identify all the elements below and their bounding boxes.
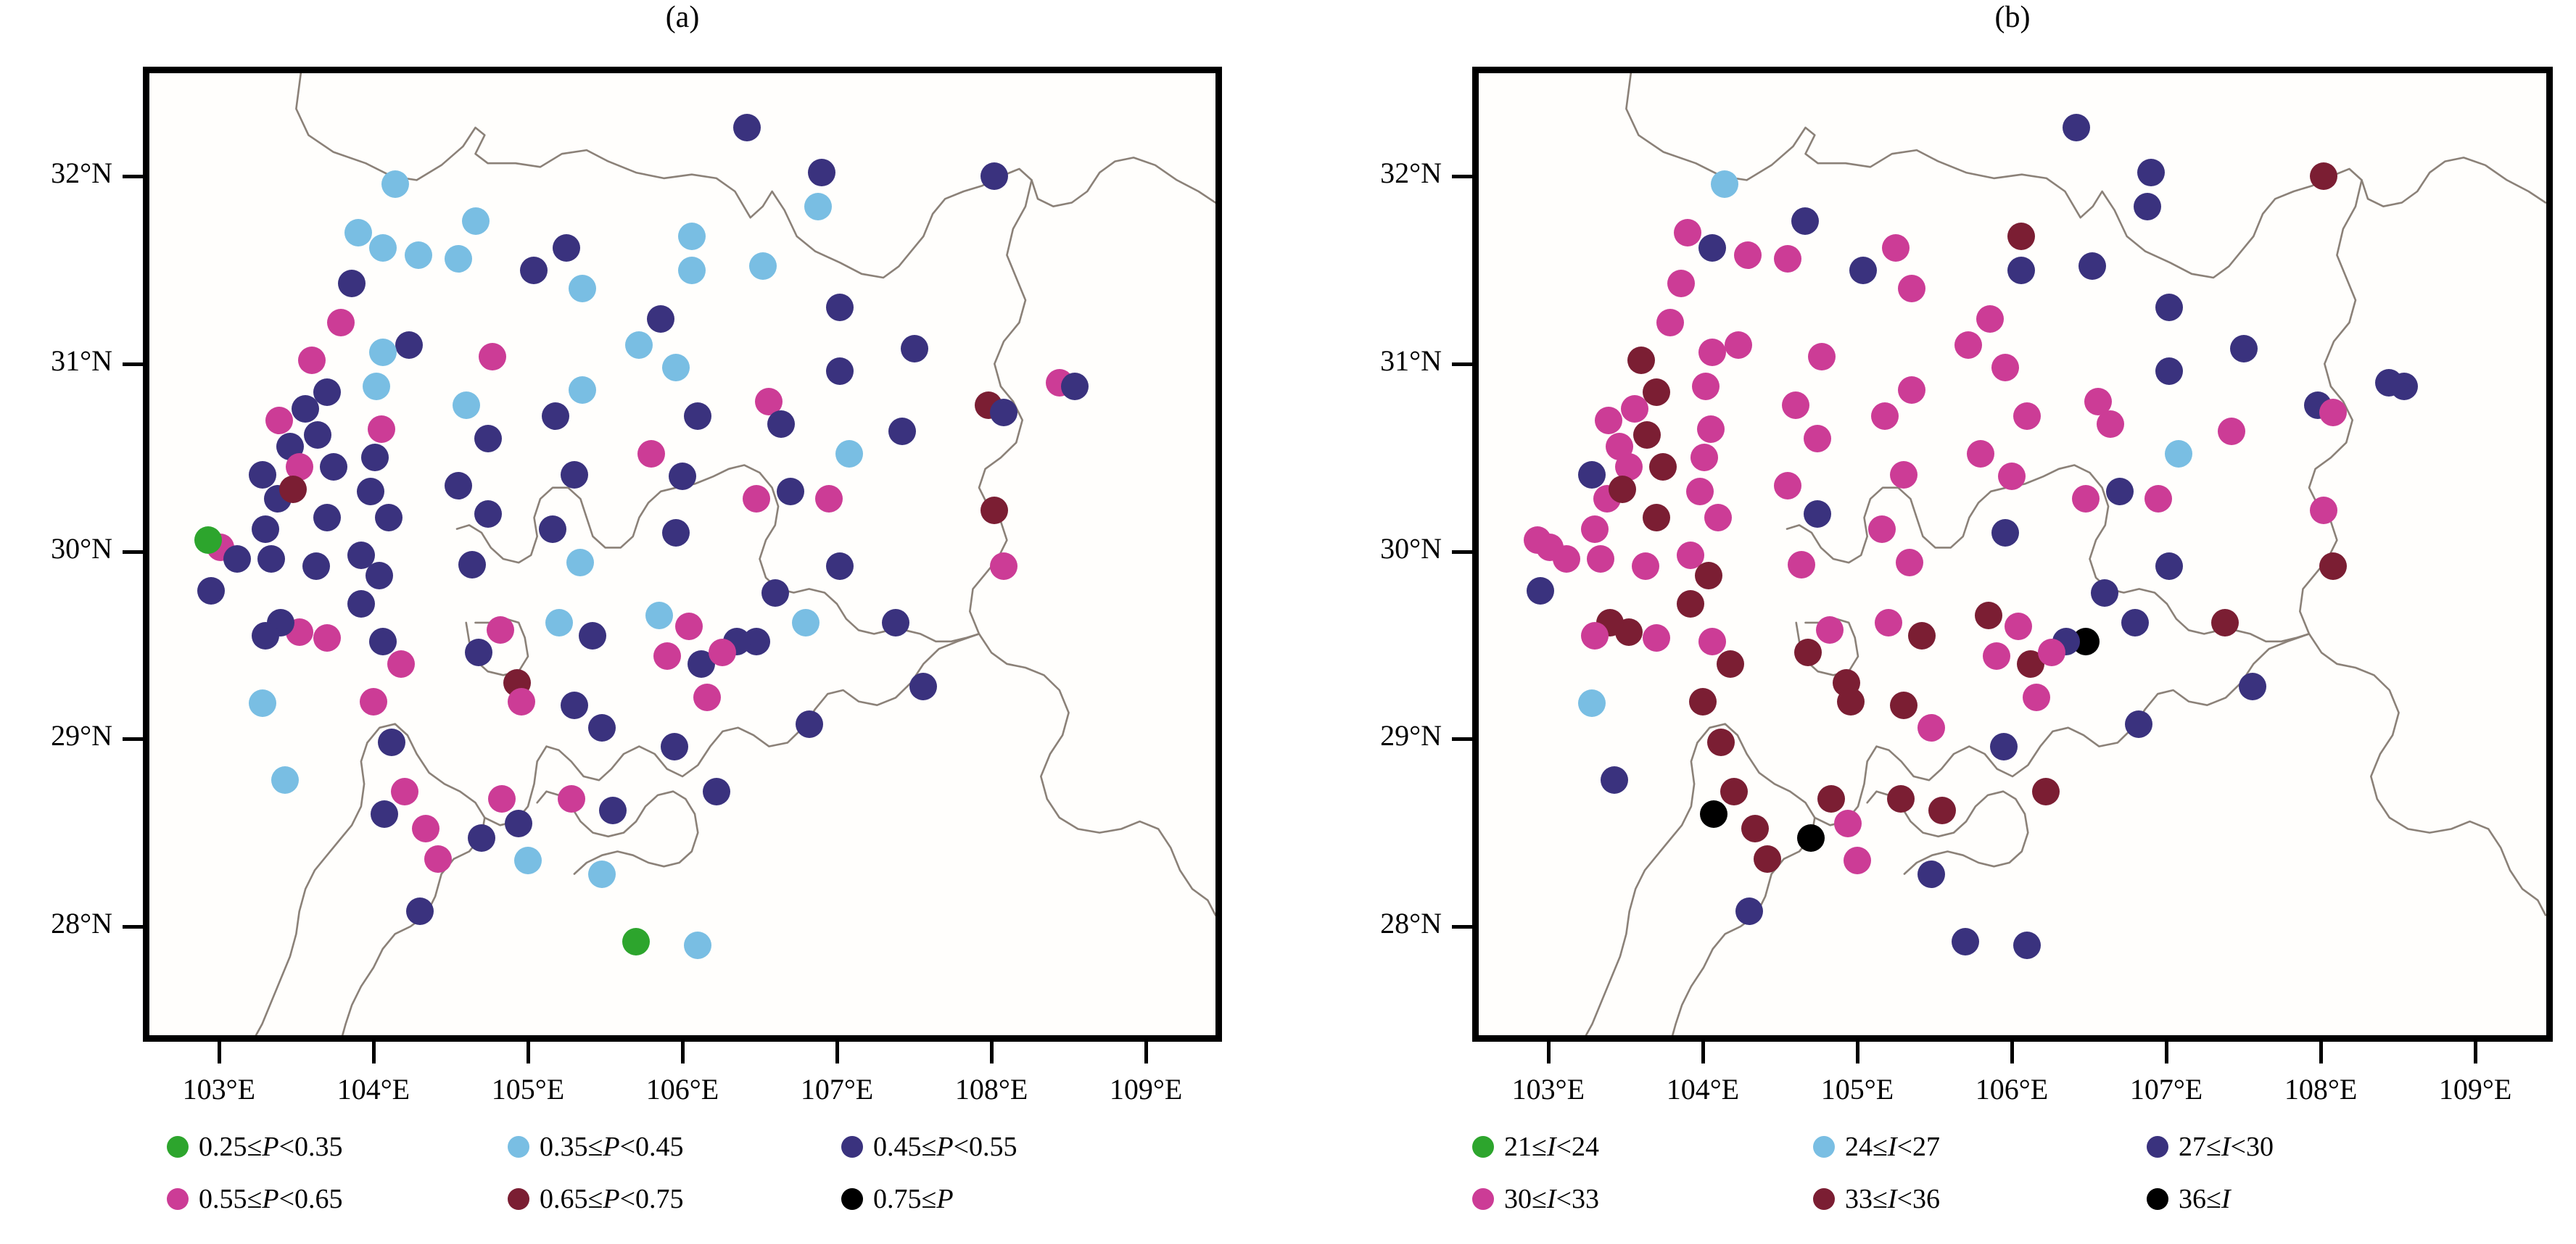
- legend-swatch-icon: [841, 1188, 863, 1210]
- scatter-point: [1834, 810, 1862, 837]
- scatter-point: [1725, 331, 1752, 359]
- x-axis-tick-label: 106°E: [1939, 1072, 2084, 1106]
- scatter-point: [678, 223, 706, 250]
- x-axis-tick: [1144, 1042, 1148, 1063]
- scatter-point: [1697, 415, 1725, 443]
- legend-swatch-icon: [1813, 1188, 1835, 1210]
- scatter-point: [2005, 613, 2032, 640]
- legend-label: 0.75≤P: [873, 1183, 954, 1215]
- legend-item: 33≤I<36: [1813, 1183, 1940, 1215]
- legend-swatch-icon: [1472, 1136, 1494, 1158]
- x-axis-tick: [1547, 1042, 1551, 1063]
- scatter-point: [375, 504, 402, 531]
- scatter-point: [1774, 472, 1801, 499]
- scatter-point: [1698, 339, 1726, 366]
- scatter-point: [252, 515, 279, 543]
- scatter-point: [808, 159, 835, 186]
- y-axis-tick: [123, 175, 143, 178]
- scatter-point: [252, 622, 279, 650]
- scatter-point: [1882, 234, 1910, 262]
- y-axis-tick-label: 28°N: [0, 906, 112, 940]
- scatter-point: [553, 234, 580, 262]
- scatter-point: [777, 478, 804, 505]
- scatter-point: [1720, 778, 1748, 805]
- scatter-point: [1817, 785, 1845, 813]
- scatter-point: [1692, 373, 1720, 400]
- scatter-point: [313, 504, 341, 531]
- scatter-point: [645, 602, 673, 629]
- scatter-point: [1581, 622, 1609, 650]
- legend-swatch-icon: [2147, 1188, 2168, 1210]
- scatter-point: [1794, 639, 1822, 666]
- scatter-point: [1917, 861, 1945, 888]
- scatter-point: [1734, 241, 1762, 269]
- scatter-point: [2218, 418, 2245, 445]
- scatter-point: [2013, 932, 2041, 959]
- x-axis-tick: [2319, 1042, 2323, 1063]
- x-axis-tick: [218, 1042, 221, 1063]
- scatter-point: [1816, 616, 1844, 644]
- y-axis-tick-label: 29°N: [0, 718, 112, 752]
- figure-root: (a) 103°E104°E105°E106°E107°E108°E109°E2…: [0, 0, 2576, 1244]
- scatter-point: [1898, 275, 1925, 302]
- scatter-point: [320, 453, 347, 481]
- scatter-point: [558, 785, 585, 813]
- scatter-point: [197, 577, 225, 605]
- legend-label: 30≤I<33: [1504, 1183, 1599, 1215]
- panel-b-plot-frame: [1472, 67, 2553, 1042]
- scatter-point: [360, 688, 387, 716]
- scatter-point: [257, 545, 285, 573]
- panel-a-title: (a): [537, 0, 827, 35]
- legend-label: 0.65≤P<0.75: [540, 1183, 684, 1215]
- x-axis-tick: [2165, 1042, 2168, 1063]
- scatter-point: [1991, 519, 2019, 547]
- scatter-point: [561, 461, 588, 489]
- x-axis-tick-label: 105°E: [455, 1072, 600, 1106]
- scatter-point: [1686, 478, 1714, 505]
- legend-item: 24≤I<27: [1813, 1131, 1940, 1163]
- scatter-point: [445, 472, 472, 499]
- scatter-point: [1774, 245, 1801, 273]
- scatter-point: [1578, 689, 1606, 717]
- y-axis-tick: [1452, 175, 1472, 178]
- scatter-point: [1061, 373, 1089, 400]
- x-axis-tick-label: 106°E: [610, 1072, 755, 1106]
- scatter-point: [796, 710, 823, 738]
- y-axis-tick: [123, 925, 143, 929]
- y-axis-tick: [123, 550, 143, 554]
- scatter-point: [2106, 478, 2134, 505]
- x-axis-tick-label: 107°E: [2094, 1072, 2239, 1106]
- scatter-point: [1627, 347, 1655, 374]
- scatter-point: [1804, 500, 1831, 528]
- scatter-point: [391, 778, 418, 805]
- legend-item: 0.75≤P: [841, 1183, 954, 1215]
- scatter-point: [569, 376, 596, 404]
- scatter-point: [462, 207, 490, 235]
- legend-label: 21≤I<24: [1504, 1131, 1599, 1163]
- y-axis-tick: [1452, 925, 1472, 929]
- scatter-point: [539, 515, 566, 543]
- y-axis-tick-label: 32°N: [1275, 156, 1442, 190]
- scatter-point: [1983, 642, 2010, 670]
- scatter-point: [1698, 234, 1726, 262]
- scatter-point: [1578, 461, 1606, 489]
- scatter-point: [445, 245, 472, 273]
- panel-a-plot-frame: [143, 67, 1222, 1042]
- legend-label: 0.35≤P<0.45: [540, 1131, 684, 1163]
- scatter-point: [561, 692, 588, 719]
- scatter-point: [2007, 223, 2035, 250]
- x-axis-tick: [990, 1042, 994, 1063]
- scatter-point: [1928, 797, 1956, 824]
- scatter-point: [1890, 692, 1917, 719]
- x-axis-tick-label: 109°E: [1073, 1072, 1218, 1106]
- scatter-point: [458, 551, 486, 579]
- y-axis-tick-label: 32°N: [0, 156, 112, 190]
- scatter-point: [888, 418, 916, 445]
- scatter-point: [569, 275, 596, 302]
- legend-label: 27≤I<30: [2179, 1131, 2274, 1163]
- x-axis-tick-label: 104°E: [1630, 1072, 1775, 1106]
- legend-label: 24≤I<27: [1845, 1131, 1940, 1163]
- x-axis-tick: [681, 1042, 685, 1063]
- scatter-point: [1524, 526, 1551, 554]
- scatter-point: [488, 785, 516, 813]
- legend-label: 33≤I<36: [1845, 1183, 1940, 1215]
- scatter-point: [1717, 650, 1744, 678]
- legend-swatch-icon: [508, 1188, 529, 1210]
- y-axis-tick-label: 30°N: [1275, 531, 1442, 565]
- scatter-point: [703, 778, 730, 805]
- scatter-point: [767, 410, 795, 438]
- scatter-point: [1643, 624, 1670, 652]
- scatter-point: [2390, 373, 2418, 400]
- scatter-point: [2134, 193, 2161, 220]
- scatter-point: [1698, 628, 1726, 655]
- scatter-point: [804, 193, 832, 220]
- scatter-point: [2211, 609, 2239, 636]
- scatter-point: [2137, 159, 2165, 186]
- x-axis-tick-label: 103°E: [146, 1072, 292, 1106]
- scatter-point: [369, 339, 397, 366]
- scatter-point: [2239, 673, 2266, 700]
- legend-swatch-icon: [167, 1188, 189, 1210]
- legend-item: 27≤I<30: [2147, 1131, 2274, 1163]
- legend-panel-a: 0.25≤P<0.350.35≤P<0.450.45≤P<0.550.55≤P<…: [167, 1131, 1218, 1225]
- scatter-point: [387, 650, 415, 678]
- scatter-point: [2091, 579, 2118, 607]
- scatter-point: [369, 234, 397, 262]
- legend-swatch-icon: [1813, 1136, 1835, 1158]
- scatter-point: [661, 733, 688, 760]
- legend-item: 21≤I<24: [1472, 1131, 1599, 1163]
- legend-item: 36≤I: [2147, 1183, 2231, 1215]
- scatter-point: [2165, 440, 2192, 468]
- scatter-point: [2032, 778, 2060, 805]
- scatter-point: [1788, 551, 1815, 579]
- scatter-point: [505, 810, 532, 837]
- scatter-point: [1849, 257, 1877, 284]
- x-axis-tick: [835, 1042, 839, 1063]
- scatter-point: [647, 305, 674, 333]
- y-axis-tick: [1452, 362, 1472, 366]
- scatter-point: [474, 425, 502, 452]
- scatter-point: [1674, 219, 1701, 246]
- legend-swatch-icon: [2147, 1136, 2168, 1158]
- x-axis-tick: [1856, 1042, 1859, 1063]
- scatter-point: [2125, 710, 2152, 738]
- y-axis-tick-label: 30°N: [0, 531, 112, 565]
- scatter-point: [1808, 343, 1836, 370]
- y-axis-tick: [1452, 737, 1472, 741]
- scatter-point: [395, 331, 423, 359]
- scatter-point: [761, 579, 789, 607]
- scatter-point: [1898, 376, 1925, 404]
- scatter-point: [1621, 395, 1648, 423]
- scatter-point: [981, 497, 1008, 524]
- scatter-point: [338, 270, 366, 297]
- x-axis-tick-label: 105°E: [1785, 1072, 1930, 1106]
- scatter-point: [1890, 461, 1917, 489]
- scatter-point: [508, 688, 535, 716]
- scatter-point: [313, 624, 341, 652]
- y-axis-tick: [123, 362, 143, 366]
- scatter-point: [1677, 590, 1704, 618]
- scatter-point: [749, 252, 777, 280]
- scatter-point: [1875, 609, 1902, 636]
- scatter-point: [369, 628, 397, 655]
- scatter-point: [1754, 845, 1781, 873]
- legend-panel-b: 21≤I<2424≤I<2727≤I<3030≤I<3333≤I<3636≤I: [1472, 1131, 2524, 1225]
- scatter-point: [669, 463, 696, 490]
- scatter-point: [347, 590, 375, 618]
- scatter-point: [298, 347, 326, 374]
- legend-item: 0.55≤P<0.65: [167, 1183, 343, 1215]
- scatter-point: [653, 642, 681, 670]
- y-axis-tick-label: 31°N: [0, 344, 112, 378]
- scatter-point: [487, 616, 514, 644]
- legend-item: 0.65≤P<0.75: [508, 1183, 684, 1215]
- scatter-point: [622, 928, 650, 955]
- legend-swatch-icon: [508, 1136, 529, 1158]
- scatter-point: [1976, 305, 2004, 333]
- scatter-point: [1700, 800, 1727, 828]
- scatter-point: [249, 689, 276, 717]
- scatter-point: [465, 639, 492, 666]
- legend-item: 0.45≤P<0.55: [841, 1131, 1017, 1163]
- x-axis-tick-label: 108°E: [919, 1072, 1064, 1106]
- panel-b-title: (b): [1867, 0, 2158, 35]
- scatter-point: [453, 391, 480, 419]
- scatter-point: [363, 373, 390, 400]
- legend-swatch-icon: [167, 1136, 189, 1158]
- scatter-point: [2007, 257, 2035, 284]
- scatter-point: [249, 461, 276, 489]
- scatter-point: [1782, 391, 1809, 419]
- y-axis-tick-label: 29°N: [1275, 718, 1442, 752]
- scatter-point: [265, 407, 293, 434]
- legend-swatch-icon: [1472, 1188, 1494, 1210]
- scatter-point: [1704, 504, 1732, 531]
- scatter-point: [1643, 504, 1670, 531]
- scatter-point: [1595, 407, 1622, 434]
- scatter-point: [368, 415, 395, 443]
- scatter-point: [479, 343, 506, 370]
- scatter-point: [1527, 577, 1554, 605]
- scatter-point: [1649, 453, 1677, 481]
- scatter-point: [327, 309, 355, 336]
- scatter-point: [1711, 170, 1738, 198]
- scatter-point: [371, 800, 398, 828]
- scatter-point: [678, 257, 706, 284]
- scatter-point: [1975, 602, 2002, 629]
- scatter-point: [1689, 688, 1717, 716]
- legend-item: 0.25≤P<0.35: [167, 1131, 343, 1163]
- scatter-point: [1990, 733, 2018, 760]
- scatter-point: [1667, 270, 1695, 297]
- scatter-point: [2230, 335, 2258, 362]
- scatter-point: [588, 861, 616, 888]
- scatter-point: [2097, 410, 2124, 438]
- y-axis-tick: [123, 737, 143, 741]
- scatter-point: [381, 170, 409, 198]
- scatter-point: [1656, 309, 1684, 336]
- scatter-point: [424, 845, 452, 873]
- x-axis-tick: [1701, 1042, 1705, 1063]
- scatter-point: [675, 613, 703, 640]
- scatter-point: [1735, 897, 1763, 925]
- x-axis-tick-label: 103°E: [1476, 1072, 1621, 1106]
- scatter-point: [520, 257, 548, 284]
- scatter-point: [1837, 688, 1865, 716]
- scatter-point: [1804, 425, 1831, 452]
- x-axis-tick: [2010, 1042, 2014, 1063]
- scatter-point: [2078, 252, 2106, 280]
- legend-label: 0.45≤P<0.55: [873, 1131, 1017, 1163]
- scatter-point: [1587, 545, 1614, 573]
- scatter-point: [599, 797, 627, 824]
- x-axis-tick-label: 107°E: [764, 1072, 909, 1106]
- scatter-point: [1952, 928, 1979, 955]
- x-axis-tick: [372, 1042, 376, 1063]
- scatter-point: [344, 219, 372, 246]
- scatter-point: [545, 609, 573, 636]
- legend-label: 0.55≤P<0.65: [199, 1183, 343, 1215]
- scatter-point: [1791, 207, 1819, 235]
- scatter-point: [2310, 497, 2337, 524]
- scatter-point: [662, 519, 690, 547]
- x-axis-tick-label: 104°E: [301, 1072, 446, 1106]
- scatter-point: [1917, 714, 1945, 742]
- scatter-point: [1887, 785, 1915, 813]
- legend-swatch-icon: [841, 1136, 863, 1158]
- scatter-point: [405, 241, 432, 269]
- legend-label: 0.25≤P<0.35: [199, 1131, 343, 1163]
- scatter-point: [1868, 515, 1896, 543]
- scatter-point: [909, 673, 937, 700]
- scatter-point: [901, 335, 928, 362]
- y-axis-tick: [1452, 550, 1472, 554]
- x-axis-tick: [527, 1042, 530, 1063]
- x-axis-tick: [2474, 1042, 2477, 1063]
- scatter-point: [474, 500, 502, 528]
- scatter-point: [406, 897, 434, 925]
- scatter-point: [835, 440, 863, 468]
- scatter-point: [292, 395, 319, 423]
- scatter-point: [194, 526, 222, 554]
- scatter-point: [1581, 515, 1609, 543]
- scatter-point: [882, 609, 909, 636]
- y-axis-tick-label: 31°N: [1275, 344, 1442, 378]
- x-axis-tick-label: 108°E: [2248, 1072, 2393, 1106]
- scatter-point: [588, 714, 616, 742]
- x-axis-tick-label: 109°E: [2403, 1072, 2548, 1106]
- y-axis-tick-label: 28°N: [1275, 906, 1442, 940]
- legend-item: 30≤I<33: [1472, 1183, 1599, 1215]
- scatter-point: [1998, 463, 2026, 490]
- legend-item: 0.35≤P<0.45: [508, 1131, 684, 1163]
- scatter-point: [684, 932, 711, 959]
- legend-label: 36≤I: [2179, 1183, 2231, 1215]
- scatter-point: [357, 478, 384, 505]
